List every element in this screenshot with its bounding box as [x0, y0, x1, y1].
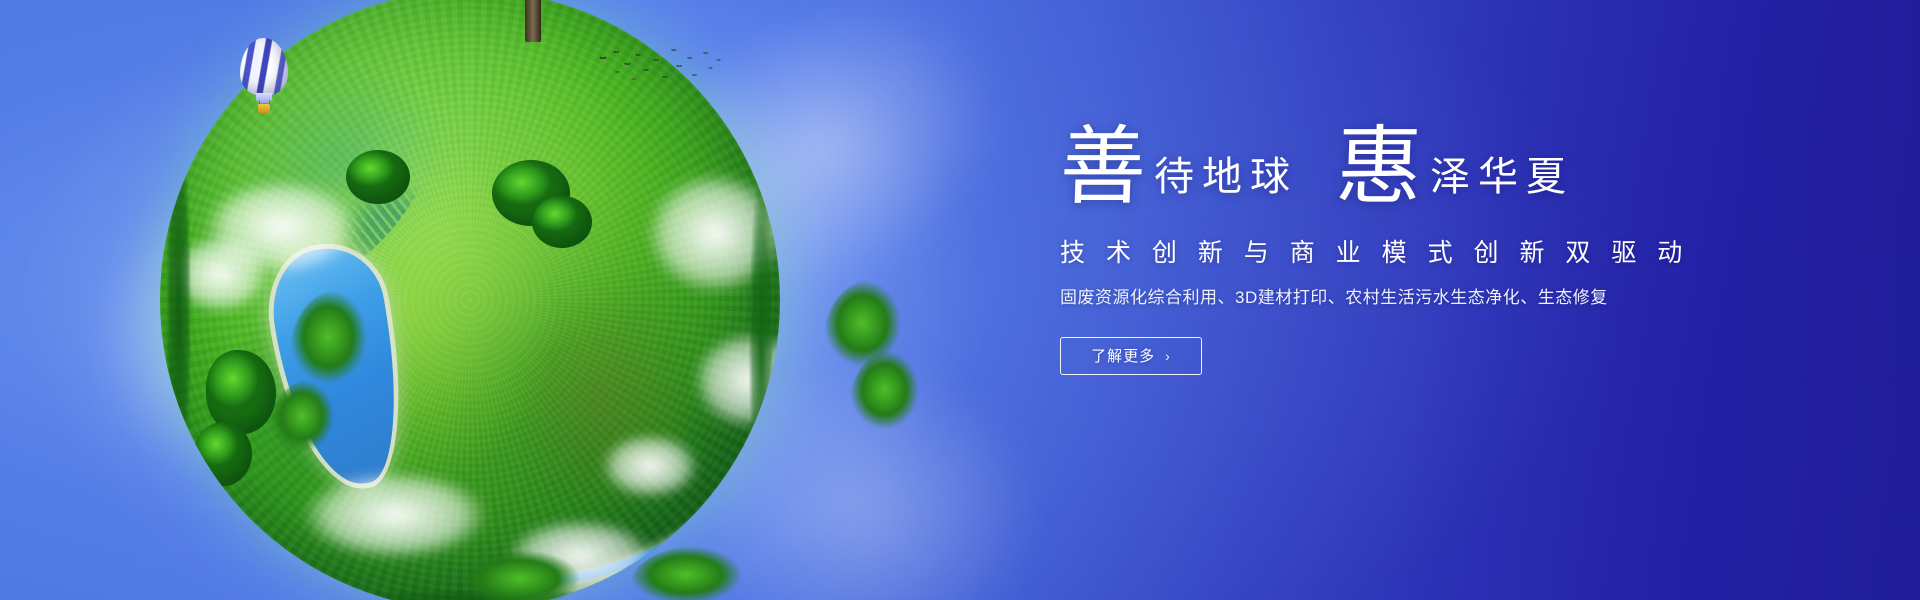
learn-more-label: 了解更多 [1091, 345, 1155, 366]
page-title: 善待地球惠泽华夏 [1060, 124, 1780, 228]
headline-char-1: 善 [1058, 124, 1147, 210]
balloon-envelope [240, 38, 288, 96]
headline-part-2: 泽华夏 [1430, 157, 1574, 197]
tree-icon [428, 0, 638, 40]
banner-subtitle: 技 术 创 新 与 商 业 模 式 创 新 双 驱 动 [1060, 238, 1780, 269]
hero-banner: 善待地球惠泽华夏 技 术 创 新 与 商 业 模 式 创 新 双 驱 动 固废资… [0, 0, 1920, 600]
headline-char-2: 惠 [1334, 124, 1423, 210]
bush [194, 422, 252, 486]
balloon-basket [258, 104, 270, 113]
chevron-right-icon: › [1165, 349, 1171, 363]
bush [532, 196, 592, 248]
planet-cloud [590, 426, 710, 506]
learn-more-button[interactable]: 了解更多 › [1060, 337, 1202, 375]
banner-text-panel: 善待地球惠泽华夏 技 术 创 新 与 商 业 模 式 创 新 双 驱 动 固废资… [1060, 124, 1780, 375]
bird-flock-icon [596, 46, 726, 90]
hot-air-balloon-icon [240, 38, 288, 118]
rim-tree [270, 380, 350, 480]
headline-part-1: 待地球 [1154, 157, 1298, 197]
banner-description: 固废资源化综合利用、3D建材打印、农村生活污水生态净化、生态修复 [1060, 285, 1780, 311]
planet-cloud [160, 226, 280, 322]
rim-tree [850, 350, 936, 460]
bush [206, 350, 276, 434]
tree-trunk [525, 0, 541, 42]
